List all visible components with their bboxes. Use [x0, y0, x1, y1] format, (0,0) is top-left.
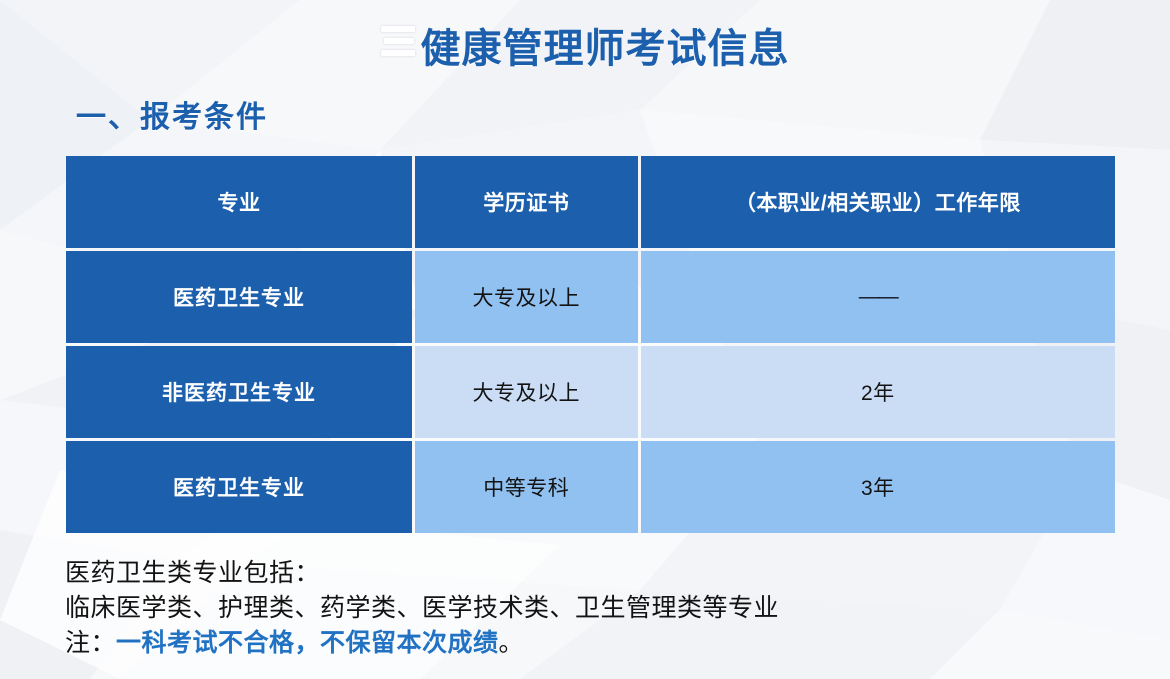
table-row: 医药卫生专业 大专及以上 —— — [66, 251, 1115, 343]
table-header-row: 专业 学历证书 （本职业/相关职业）工作年限 — [66, 156, 1115, 248]
column-header-years: （本职业/相关职业）工作年限 — [641, 156, 1115, 248]
note-line-1: 医药卫生类专业包括： — [65, 556, 779, 591]
table-row: 医药卫生专业 中等专科 3年 — [66, 441, 1115, 533]
footer-notes: 医药卫生类专业包括： 临床医学类、护理类、药学类、医学技术类、卫生管理类等专业 … — [65, 556, 779, 661]
cell-major: 医药卫生专业 — [66, 441, 412, 533]
slide-canvas: 健康管理师考试信息 一、报考条件 专业 学历证书 （本职业/相关职业）工作年限 … — [0, 0, 1170, 679]
table-row: 非医药卫生专业 大专及以上 2年 — [66, 346, 1115, 438]
cell-degree: 大专及以上 — [415, 251, 638, 343]
note-period: 。 — [499, 629, 525, 657]
cell-major: 非医药卫生专业 — [66, 346, 412, 438]
note-line-2: 临床医学类、护理类、药学类、医学技术类、卫生管理类等专业 — [65, 591, 779, 626]
cell-years-value: —— — [859, 285, 897, 309]
cell-degree: 中等专科 — [415, 441, 638, 533]
note-label: 注： — [65, 629, 116, 657]
note-line-3: 注：一科考试不合格，不保留本次成绩。 — [65, 626, 779, 661]
note-emphasis: 一科考试不合格，不保留本次成绩 — [116, 629, 499, 657]
cell-years: 2年 — [641, 346, 1115, 438]
section-heading: 一、报考条件 — [76, 92, 268, 136]
column-header-major: 专业 — [66, 156, 412, 248]
requirements-table: 专业 学历证书 （本职业/相关职业）工作年限 医药卫生专业 大专及以上 —— 非… — [63, 153, 1118, 536]
page-title: 健康管理师考试信息 — [421, 16, 790, 74]
column-header-degree: 学历证书 — [415, 156, 638, 248]
slide-title-row: 健康管理师考试信息 — [0, 16, 1170, 74]
cell-years: 3年 — [641, 441, 1115, 533]
cell-degree: 大专及以上 — [415, 346, 638, 438]
three-bars-icon — [381, 26, 417, 60]
cell-major: 医药卫生专业 — [66, 251, 412, 343]
cell-years: —— — [641, 251, 1115, 343]
